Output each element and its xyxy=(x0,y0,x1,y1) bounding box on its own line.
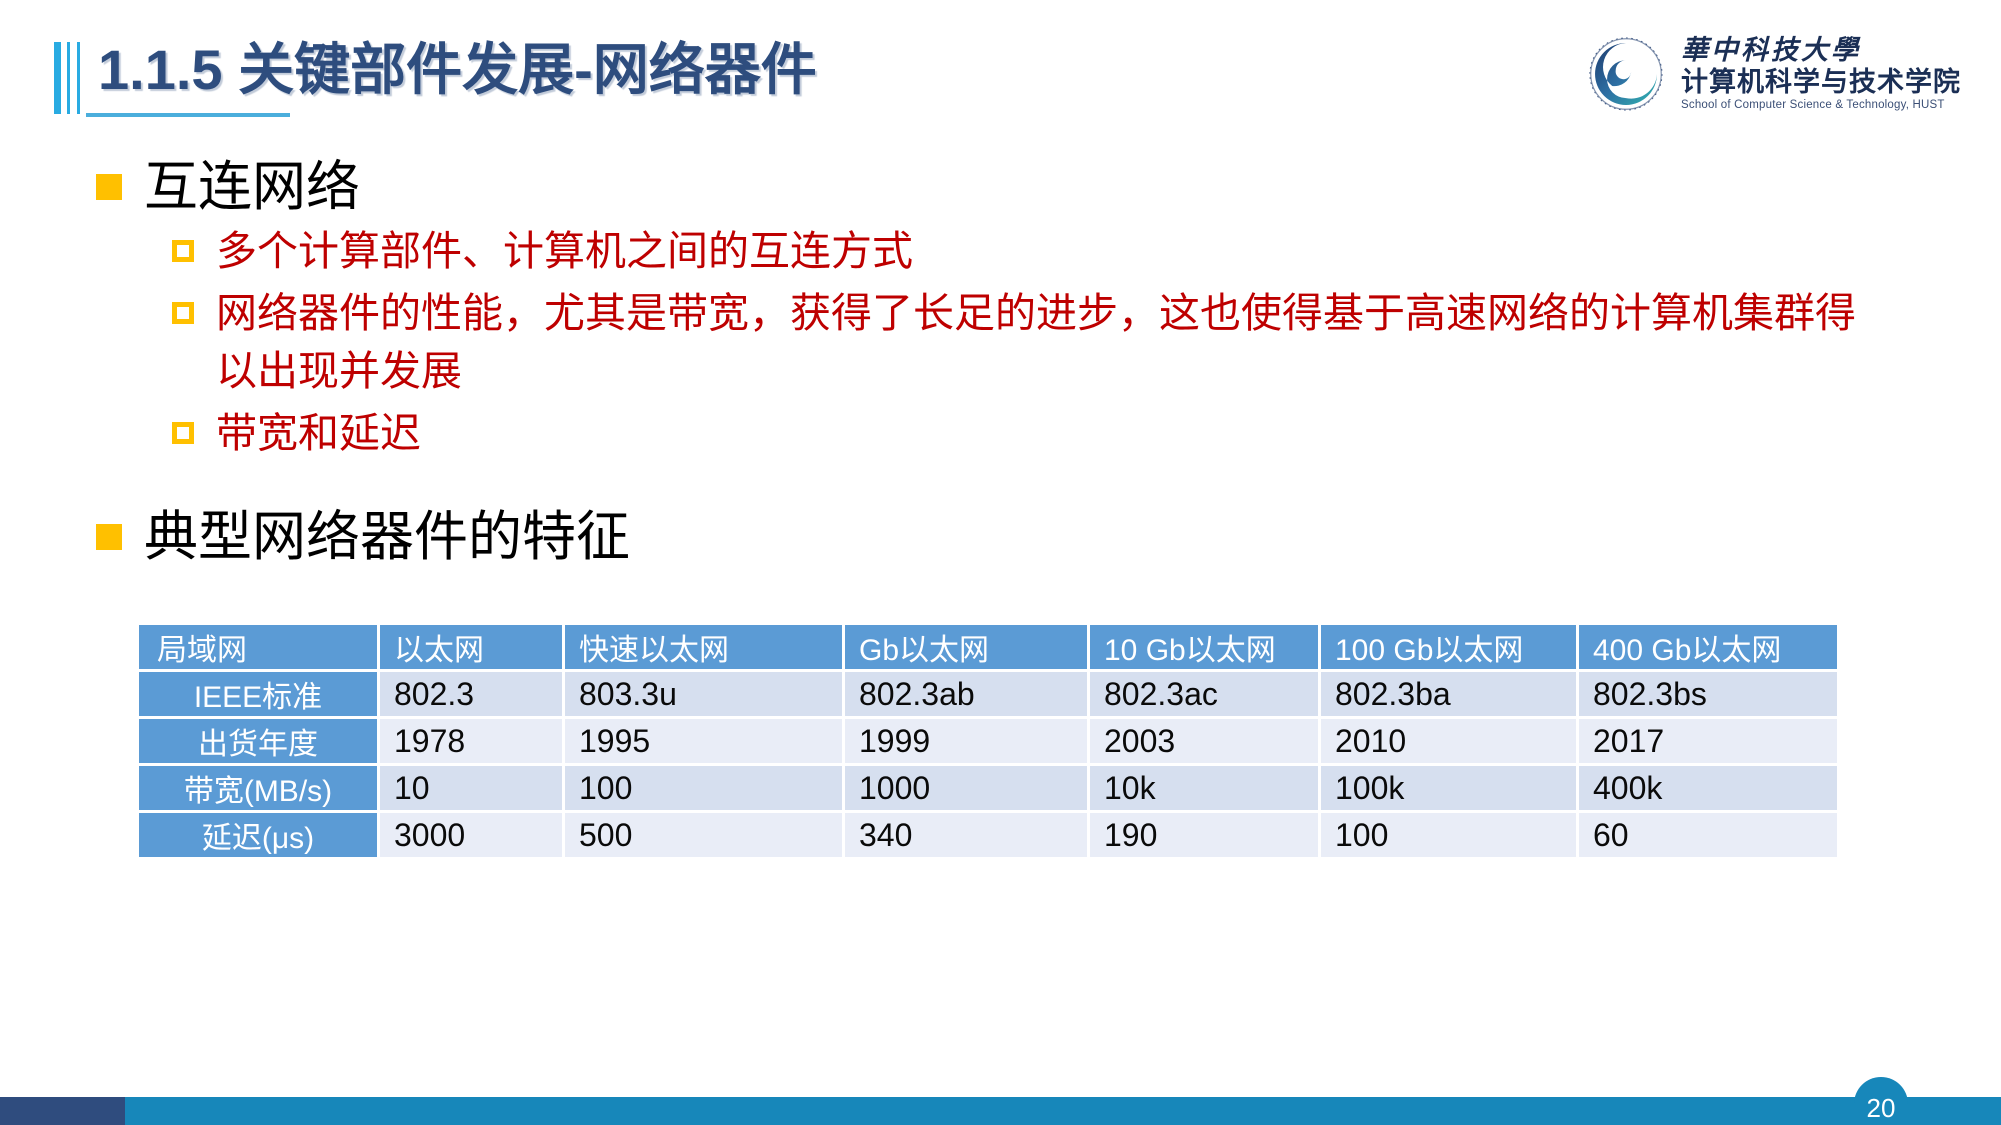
table-cell: 190 xyxy=(1090,813,1318,857)
title-underline xyxy=(86,113,290,117)
table-row-label: 出货年度 xyxy=(139,719,377,763)
table-cell: 100k xyxy=(1321,766,1576,810)
table-cell: 100 xyxy=(565,766,842,810)
section-heading-label: 互连网络 xyxy=(144,156,360,218)
bullet-square-filled-icon xyxy=(96,174,122,200)
table-row-label: IEEE标准 xyxy=(139,672,377,716)
table-cell: 802.3ac xyxy=(1090,672,1318,716)
table-header-cell: 400 Gb以太网 xyxy=(1579,625,1837,669)
section-heading-label: 典型网络器件的特征 xyxy=(144,506,630,568)
list-item: 带宽和延迟 xyxy=(0,404,2001,462)
footer-bar-accent xyxy=(0,1097,125,1125)
title-accent-bar-1 xyxy=(54,42,61,114)
table-header-cell: 100 Gb以太网 xyxy=(1321,625,1576,669)
page-title: 1.1.5 关键部件发展-网络器件 xyxy=(98,34,817,106)
bullet-square-filled-icon xyxy=(96,524,122,550)
page-number-label: 20 xyxy=(1867,1095,1896,1121)
table-cell: 60 xyxy=(1579,813,1837,857)
table-cell: 2003 xyxy=(1090,719,1318,763)
bullet-square-hollow-icon xyxy=(172,240,194,262)
table-row-label: 带宽(MB/s) xyxy=(139,766,377,810)
table-cell: 1000 xyxy=(845,766,1087,810)
logo-english-name: School of Computer Science & Technology,… xyxy=(1681,100,1961,112)
list-item-label: 网络器件的性能，尤其是带宽，获得了长足的进步，这也使得基于高速网络的计算机集群得… xyxy=(216,284,1876,400)
table-cell: 100 xyxy=(1321,813,1576,857)
list-item-label: 带宽和延迟 xyxy=(216,404,421,462)
table-cell: 340 xyxy=(845,813,1087,857)
slide-header: 1.1.5 关键部件发展-网络器件 華中科技大學 计算机科学与技术学院 Scho… xyxy=(0,0,2001,150)
table-cell: 802.3ab xyxy=(845,672,1087,716)
logo-university-name: 華中科技大學 xyxy=(1681,37,1961,64)
list-item: 网络器件的性能，尤其是带宽，获得了长足的进步，这也使得基于高速网络的计算机集群得… xyxy=(0,284,2001,400)
table-cell: 803.3u xyxy=(565,672,842,716)
list-item: 多个计算部件、计算机之间的互连方式 xyxy=(0,222,2001,280)
section-features: 典型网络器件的特征 xyxy=(0,506,2001,568)
table-cell: 10k xyxy=(1090,766,1318,810)
table-cell: 802.3ba xyxy=(1321,672,1576,716)
section-heading-features: 典型网络器件的特征 xyxy=(0,506,2001,568)
title-accent-bars xyxy=(54,42,94,114)
logo-text-block: 華中科技大學 计算机科学与技术学院 School of Computer Sci… xyxy=(1681,37,1961,112)
footer-bar xyxy=(0,1097,2001,1125)
table-cell: 1995 xyxy=(565,719,842,763)
table-cell: 400k xyxy=(1579,766,1837,810)
table-cell: 802.3 xyxy=(380,672,562,716)
table-header-cell: 以太网 xyxy=(380,625,562,669)
list-item-label: 多个计算部件、计算机之间的互连方式 xyxy=(216,222,913,280)
table-header-row: 局域网 以太网 快速以太网 Gb以太网 10 Gb以太网 100 Gb以太网 4… xyxy=(139,625,1837,669)
section-interconnect: 互连网络 多个计算部件、计算机之间的互连方式 网络器件的性能，尤其是带宽，获得了… xyxy=(0,156,2001,462)
table-cell: 802.3bs xyxy=(1579,672,1837,716)
slide-body: 互连网络 多个计算部件、计算机之间的互连方式 网络器件的性能，尤其是带宽，获得了… xyxy=(0,150,2001,572)
page-number-badge: 20 xyxy=(1854,1077,1908,1125)
title-accent-bar-2 xyxy=(67,42,80,114)
table-header-cell: 局域网 xyxy=(139,625,377,669)
table-cell: 1999 xyxy=(845,719,1087,763)
bullet-square-hollow-icon xyxy=(172,302,194,324)
table-row: 带宽(MB/s) 10 100 1000 10k 100k 400k xyxy=(139,766,1837,810)
table-row: 延迟(μs) 3000 500 340 190 100 60 xyxy=(139,813,1837,857)
table-row-label: 延迟(μs) xyxy=(139,813,377,857)
table-header-cell: 快速以太网 xyxy=(565,625,842,669)
table-cell: 2010 xyxy=(1321,719,1576,763)
table-header-cell: Gb以太网 xyxy=(845,625,1087,669)
table-cell: 1978 xyxy=(380,719,562,763)
table-cell: 3000 xyxy=(380,813,562,857)
table-row: IEEE标准 802.3 803.3u 802.3ab 802.3ac 802.… xyxy=(139,672,1837,716)
bullet-square-hollow-icon xyxy=(172,422,194,444)
table-header-cell: 10 Gb以太网 xyxy=(1090,625,1318,669)
hust-swirl-icon xyxy=(1583,31,1669,117)
table-row: 出货年度 1978 1995 1999 2003 2010 2017 xyxy=(139,719,1837,763)
table-cell: 2017 xyxy=(1579,719,1837,763)
section-heading-interconnect: 互连网络 xyxy=(0,156,2001,218)
logo-school-name: 计算机科学与技术学院 xyxy=(1681,69,1961,96)
hust-logo: 華中科技大學 计算机科学与技术学院 School of Computer Sci… xyxy=(1583,28,1961,120)
table-cell: 500 xyxy=(565,813,842,857)
network-devices-table: 局域网 以太网 快速以太网 Gb以太网 10 Gb以太网 100 Gb以太网 4… xyxy=(136,622,1840,860)
table-cell: 10 xyxy=(380,766,562,810)
